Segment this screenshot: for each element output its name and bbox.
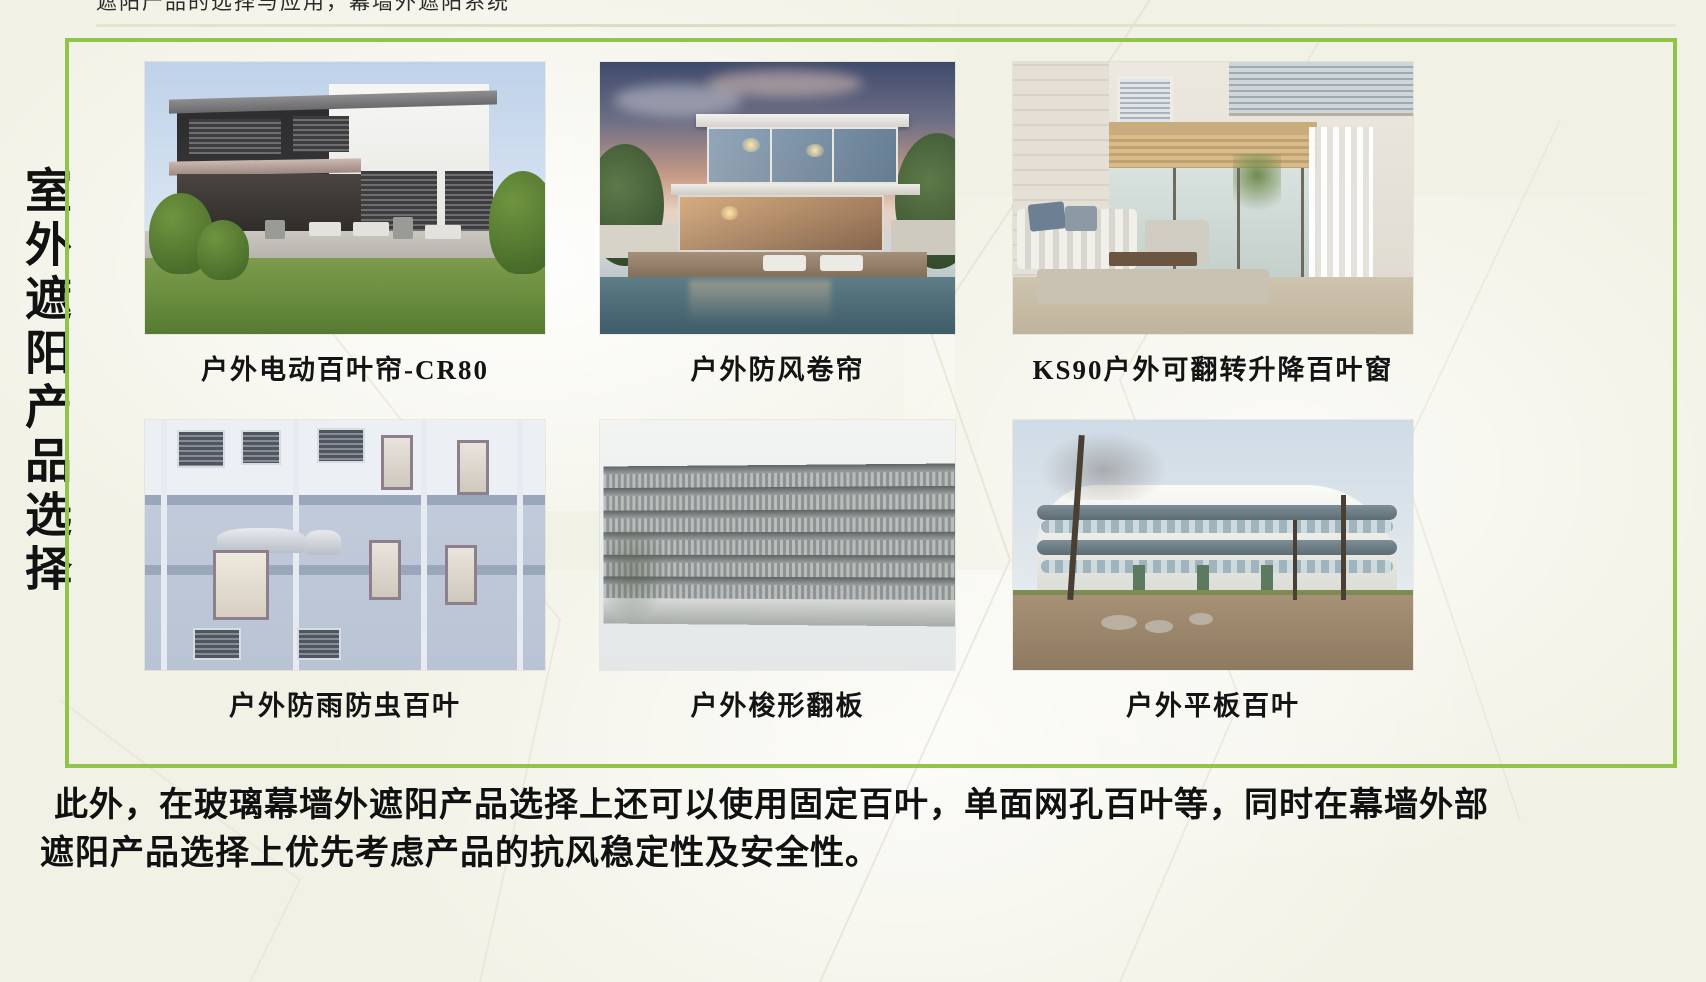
product-card-2[interactable]: 户外防风卷帘: [600, 62, 955, 387]
product-card-5[interactable]: 户外梭形翻板: [600, 420, 955, 723]
product-card-3[interactable]: KS90户外可翻转升降百叶窗: [1013, 62, 1413, 387]
product-caption-5: 户外梭形翻板: [600, 684, 955, 723]
product-card-4[interactable]: 户外防雨防虫百叶: [145, 420, 545, 723]
header-divider-rule: [96, 24, 1676, 27]
product-card-6[interactable]: 户外平板百叶: [1013, 420, 1413, 723]
product-image-6: [1013, 420, 1413, 670]
cropped-header-strip: 遮阳产品的选择与应用，幕墙外遮阳系统: [0, 0, 1706, 24]
slide-canvas: 遮阳产品的选择与应用，幕墙外遮阳系统 室外遮阳产品选择: [0, 0, 1706, 982]
product-caption-3: KS90户外可翻转升降百叶窗: [1013, 348, 1413, 387]
product-image-1: [145, 62, 545, 334]
product-gallery-frame: 户外电动百叶帘-CR80: [65, 38, 1677, 768]
product-image-3: [1013, 62, 1413, 334]
product-image-2: [600, 62, 955, 334]
product-caption-4: 户外防雨防虫百叶: [145, 684, 545, 723]
body-paragraph-line-1: 此外，在玻璃幕墙外遮阳产品选择上还可以使用固定百叶，单面网孔百叶等，同时在幕墙外…: [40, 782, 1666, 830]
product-image-4: [145, 420, 545, 670]
body-paragraph-line-2: 遮阳产品选择上优先考虑产品的抗风稳定性及安全性。: [40, 830, 1666, 878]
product-image-5: [600, 420, 955, 670]
page-title: 室外遮阳产品选择: [8, 166, 70, 686]
product-caption-1: 户外电动百叶帘-CR80: [145, 348, 545, 387]
product-caption-2: 户外防风卷帘: [600, 348, 955, 387]
product-card-1[interactable]: 户外电动百叶帘-CR80: [145, 62, 545, 387]
product-caption-6: 户外平板百叶: [1013, 684, 1413, 723]
cropped-header-text: 遮阳产品的选择与应用，幕墙外遮阳系统: [96, 0, 510, 16]
body-paragraph: 此外，在玻璃幕墙外遮阳产品选择上还可以使用固定百叶，单面网孔百叶等，同时在幕墙外…: [40, 782, 1666, 879]
